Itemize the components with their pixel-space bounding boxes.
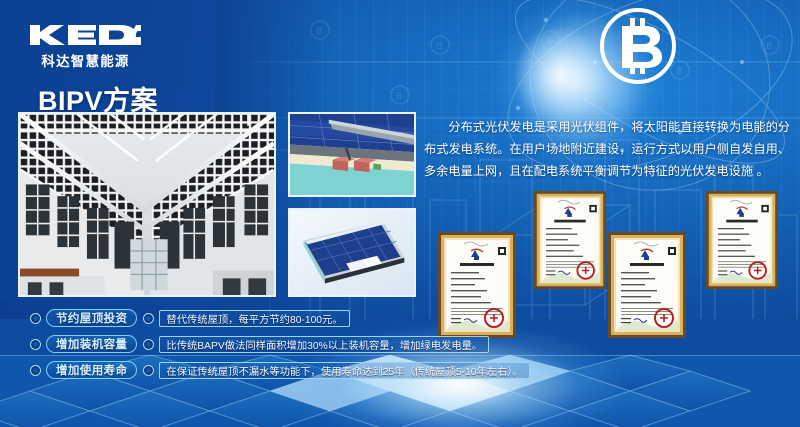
patent-certificate-icon [534,190,606,290]
svg-text:B: B [396,91,402,101]
brand-logo-cn: 科达智慧能源 [28,50,143,70]
patent-certificate-icon [706,190,778,290]
benefit-description: 比传统BAPV做法同样面积增加30%以上装机容量，增加绿电发电量。 [159,336,489,353]
keda-wordmark-icon [28,22,143,48]
bipv-atrium-skylight-photo [18,112,276,297]
benefit-label: 增加使用寿命 [46,361,137,379]
benefit-row: 节约屋顶投资 替代传统屋顶，每平方节约80-100元。 [30,307,450,329]
benefits-list: 节约屋顶投资 替代传统屋顶，每平方节约80-100元。 增加装机容量 比传统BA… [30,307,450,385]
bullet-dot-icon [30,339,41,350]
bullet-dot-icon [143,313,154,324]
brand-logo[interactable]: 科达智慧能源 [28,22,143,70]
svg-text:B: B [766,41,772,51]
solar-panel-mounting-detail-render [288,112,416,197]
benefit-description: 在保证传统屋顶不漏水等功能下，使用寿命达到25年（传统屋顶5-10年左右）。 [159,362,529,379]
benefit-description: 替代传统屋顶，每平方节约80-100元。 [159,310,349,327]
certificates-gallery [438,190,800,340]
bullet-dot-icon [30,313,41,324]
benefit-row: 增加装机容量 比传统BAPV做法同样面积增加30%以上装机容量，增加绿电发电量。 [30,333,450,355]
certificate-item[interactable] [706,190,778,290]
intro-paragraph: 分布式光伏发电是采用光伏组件，将太阳能直接转换为电能的分布式发电系统。在用户场地… [424,116,790,182]
solar-panel-module-render [288,208,416,297]
bitcoin-icon [596,4,680,88]
benefit-row: 增加使用寿命 在保证传统屋顶不漏水等功能下，使用寿命达到25年（传统屋顶5-10… [30,359,450,381]
bullet-dot-icon [143,339,154,350]
certificate-item[interactable] [534,190,606,290]
svg-text:B: B [436,41,442,51]
bullet-dot-icon [30,365,41,376]
benefit-label: 节约屋顶投资 [46,309,137,327]
poster-canvas: BB BB BB [0,0,800,427]
certificate-item[interactable] [608,232,686,338]
patent-certificate-icon [608,232,686,338]
benefit-label: 增加装机容量 [46,335,137,353]
bullet-dot-icon [143,365,154,376]
